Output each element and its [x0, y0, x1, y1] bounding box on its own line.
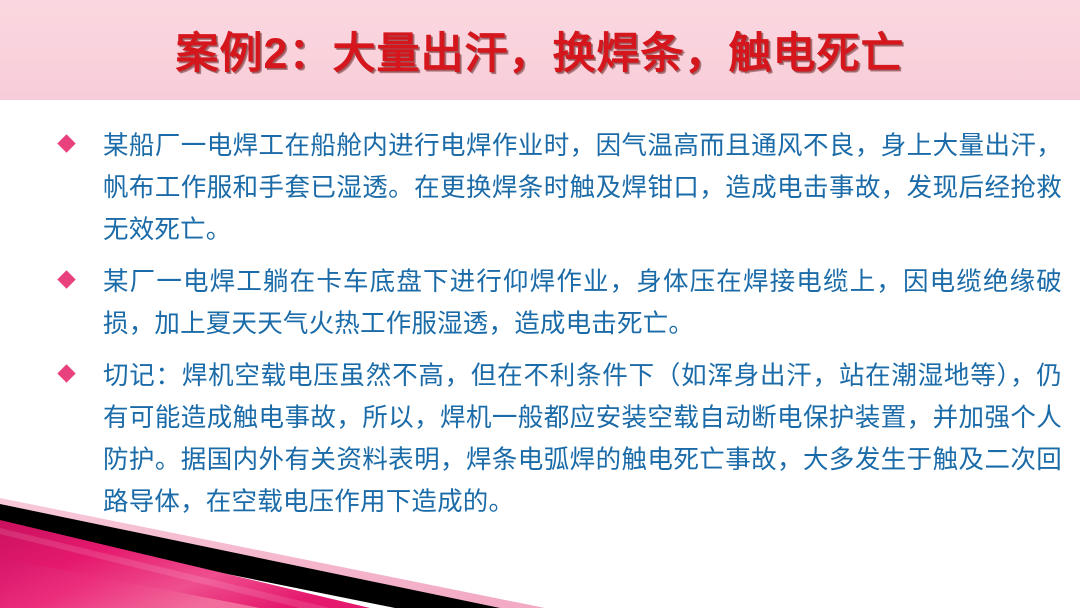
list-item: 某厂一电焊工躺在卡车底盘下进行仰焊作业，身体压在焊接电缆上，因电缆绝缘破损，加上… [0, 261, 1080, 345]
diamond-bullet-icon [57, 134, 75, 152]
diamond-bullet-icon [57, 270, 75, 288]
corner-accent-right [900, 592, 1080, 608]
slide: 案例2：大量出汗，换焊条，触电死亡 某船厂一电焊工在船舱内进行电焊作业时，因气温… [0, 0, 1080, 608]
slide-body: 某船厂一电焊工在船舱内进行电焊作业时，因气温高而且通风不良，身上大量出汗，帆布工… [0, 103, 1080, 608]
list-item: 切记：焊机空载电压虽然不高，但在不利条件下（如浑身出汗，站在潮湿地等），仍有可能… [0, 355, 1080, 523]
list-item-text: 切记：焊机空载电压虽然不高，但在不利条件下（如浑身出汗，站在潮湿地等），仍有可能… [103, 355, 1062, 523]
page-title: 案例2：大量出汗，换焊条，触电死亡 [0, 0, 1080, 100]
diamond-bullet-icon [57, 364, 75, 382]
list-item-text: 某船厂一电焊工在船舱内进行电焊作业时，因气温高而且通风不良，身上大量出汗，帆布工… [103, 125, 1062, 251]
list-item-text: 某厂一电焊工躺在卡车底盘下进行仰焊作业，身体压在焊接电缆上，因电缆绝缘破损，加上… [103, 261, 1062, 345]
list-item: 某船厂一电焊工在船舱内进行电焊作业时，因气温高而且通风不良，身上大量出汗，帆布工… [0, 125, 1080, 251]
bullet-list: 某船厂一电焊工在船舱内进行电焊作业时，因气温高而且通风不良，身上大量出汗，帆布工… [0, 125, 1080, 533]
